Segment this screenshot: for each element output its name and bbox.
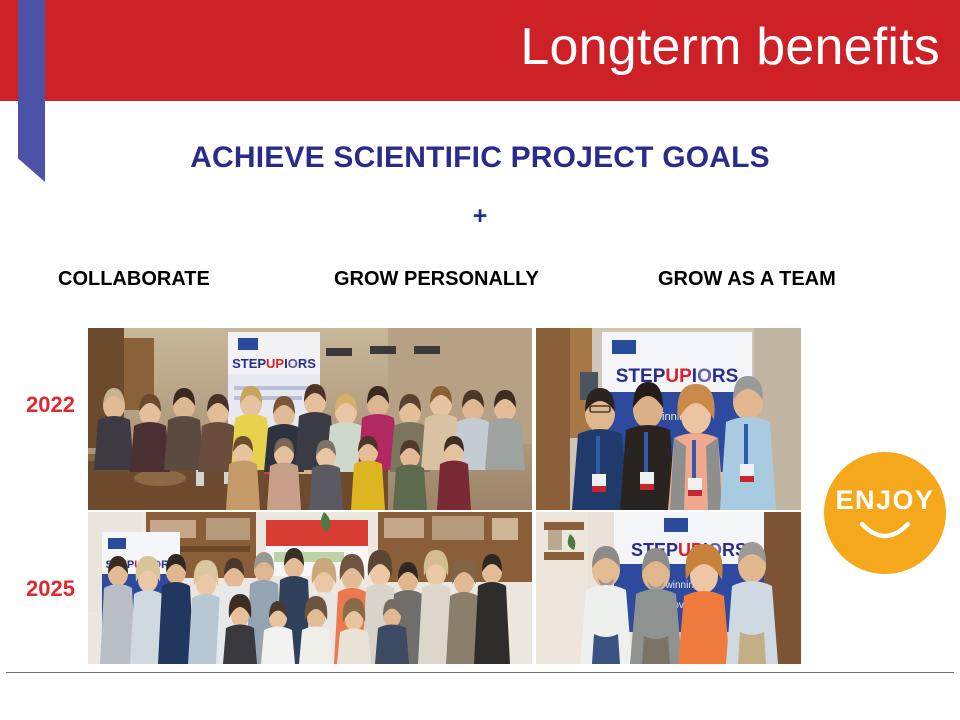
slide-title: Longterm benefits [520,16,940,78]
smile-icon [859,520,911,546]
slide: Longterm benefits ACHIEVE SCIENTIFIC PRO… [0,0,960,720]
enjoy-badge-text: ENJOY [824,485,946,516]
photo-2022-group: STEPUPIORS [88,328,532,510]
year-label-2022: 2022 [26,392,75,418]
main-heading: ACHIEVE SCIENTIFIC PROJECT GOALS [0,141,960,175]
enjoy-badge: ENJOY [824,452,946,574]
column-label-grow-personally: GROW PERSONALLY [334,268,539,291]
column-label-grow-as-a-team: GROW AS A TEAM [658,268,836,291]
svg-text:STEPUPIORS: STEPUPIORS [232,356,316,371]
photo-2025-team: STEPUPIORS Twinning innov [536,512,801,664]
photo-2022-team: STEPUPIORS Twinning for [536,328,801,510]
photo-2025-group: STEPUPIORS [88,512,532,664]
column-label-collaborate: COLLABORATE [58,268,210,291]
plus-sign: + [0,202,960,231]
svg-text:STEPUPIORS: STEPUPIORS [616,366,739,387]
year-label-2025: 2025 [26,576,75,602]
footer: STEPUPIRS This study was funded by the H… [0,673,960,720]
